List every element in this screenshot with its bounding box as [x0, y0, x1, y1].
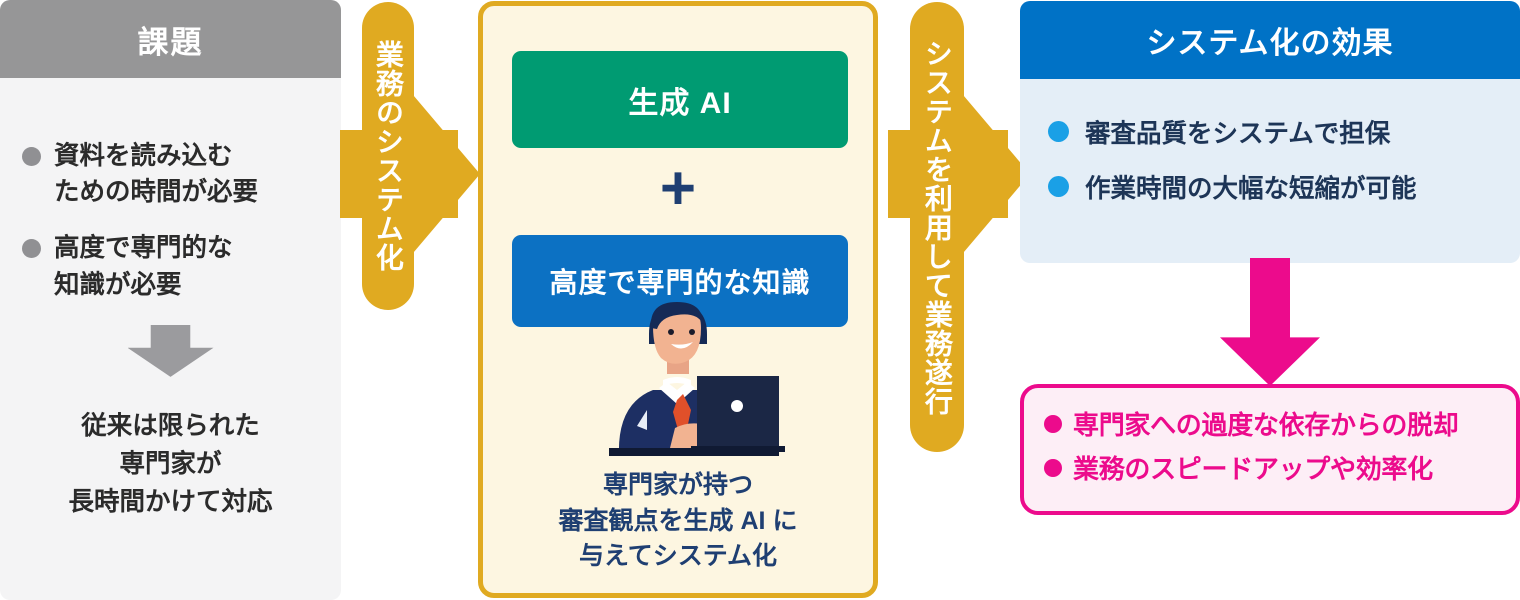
benefit-text: 専門家への過度な依存からの脱却 — [1073, 405, 1459, 442]
issues-panel: 課題 資料を読み込むための時間が必要 高度で専門的な知識が必要 従来は限られた専… — [0, 0, 341, 600]
issue-text: 資料を読み込むための時間が必要 — [54, 138, 258, 210]
generative-ai-box: 生成 AI — [512, 51, 848, 148]
list-item: 資料を読み込むための時間が必要 — [0, 138, 341, 210]
bullet-icon — [1044, 459, 1062, 477]
bullet-icon — [22, 147, 41, 166]
effects-panel-title: システム化の効果 — [1020, 1, 1520, 79]
down-arrow-icon — [1220, 258, 1320, 386]
arrow-label-pill: 業務のシステム化 — [362, 2, 414, 310]
bullet-icon — [1044, 415, 1062, 433]
issues-panel-title: 課題 — [0, 0, 341, 78]
center-caption-text: 専門家が持つ審査観点を生成 AI に与えてシステム化 — [483, 468, 873, 575]
arrow-use-system: システムを利用して業務遂行 — [888, 0, 1030, 600]
benefit-text: 業務のスピードアップや効率化 — [1073, 449, 1433, 486]
issue-text: 高度で専門的な知識が必要 — [54, 230, 233, 302]
bullet-icon — [22, 239, 41, 258]
bullet-icon — [1048, 121, 1069, 142]
plus-icon: + — [483, 158, 873, 220]
list-item: 作業時間の大幅な短縮が可能 — [1020, 168, 1520, 205]
businessman-with-laptop-illustration — [579, 296, 789, 456]
down-arrow-icon — [128, 325, 214, 377]
effects-panel: システム化の効果 審査品質をシステムで担保 作業時間の大幅な短縮が可能 — [1020, 1, 1520, 263]
arrow-label: 業務のシステム化 — [373, 40, 403, 272]
effect-text: 審査品質をシステムで担保 — [1085, 113, 1390, 150]
arrow-label: システムを利用して業務遂行 — [922, 39, 952, 416]
list-item: 専門家への過度な依存からの脱却 — [1024, 405, 1516, 442]
list-item: 高度で専門的な知識が必要 — [0, 230, 341, 302]
issues-list: 資料を読み込むための時間が必要 高度で専門的な知識が必要 — [0, 78, 341, 303]
effects-list: 審査品質をシステムで担保 作業時間の大幅な短縮が可能 — [1020, 79, 1520, 205]
arrow-label-pill: システムを利用して業務遂行 — [910, 2, 964, 452]
list-item: 業務のスピードアップや効率化 — [1024, 449, 1516, 486]
bullet-icon — [1048, 176, 1069, 197]
list-item: 審査品質をシステムで担保 — [1020, 113, 1520, 150]
arrow-head-icon — [408, 89, 480, 259]
solution-panel: 生成 AI + 高度で専門的な知識 専門家が持つ審査観点を生成 AI — [478, 1, 878, 598]
benefits-list: 専門家への過度な依存からの脱却 業務のスピードアップや効率化 — [1024, 388, 1516, 486]
arrow-systemization: 業務のシステム化 — [340, 0, 480, 600]
issues-conclusion-text: 従来は限られた専門家が長時間かけて対応 — [0, 407, 341, 522]
effect-text: 作業時間の大幅な短縮が可能 — [1085, 168, 1417, 205]
benefits-panel: 専門家への過度な依存からの脱却 業務のスピードアップや効率化 — [1020, 384, 1520, 515]
